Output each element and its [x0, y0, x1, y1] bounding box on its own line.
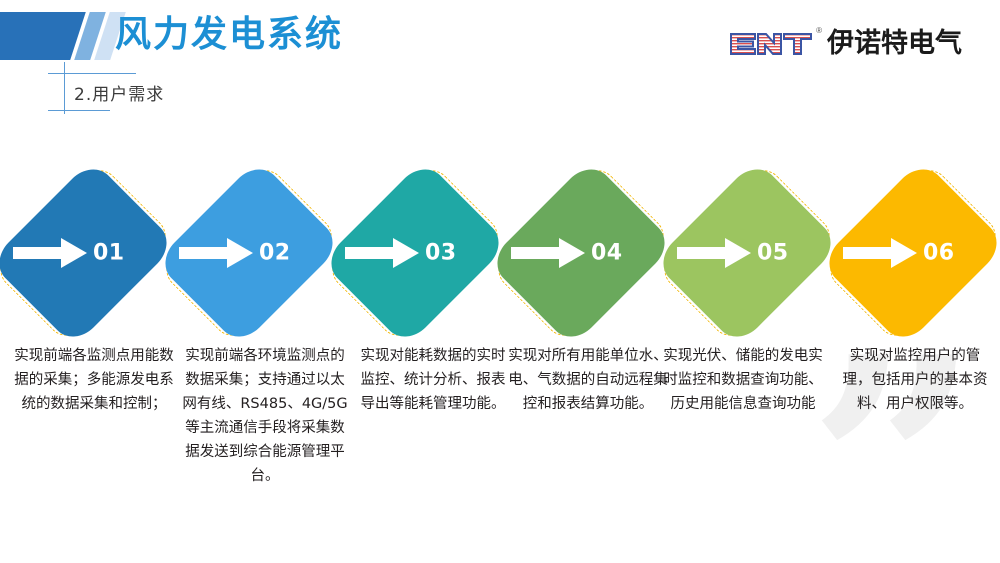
section-vertical-rule [64, 62, 65, 114]
section-rule-bottom [48, 110, 110, 111]
flow-captions: 实现前端各监测点用能数据的采集；多能源发电系统的数据采集和控制； 实现前端各环境… [0, 344, 1000, 494]
arrow-right-icon [843, 238, 917, 268]
process-flow: 01 02 03 04 05 [0, 168, 1000, 338]
ent-logo-icon [729, 31, 815, 57]
arrow-right-icon [179, 238, 253, 268]
slide-page: ” 风力发电系统 2.用户需求 [0, 0, 1000, 563]
flow-caption-03: 实现对能耗数据的实时监控、统计分析、报表导出等能耗管理功能。 [358, 344, 508, 416]
company-logo: ® 伊诺特电气 [729, 24, 962, 64]
flow-node-01[interactable]: 01 [0, 168, 166, 338]
company-name: 伊诺特电气 [827, 29, 962, 59]
flow-node-number: 06 [923, 241, 955, 266]
flow-node-02[interactable]: 02 [166, 168, 332, 338]
flow-caption-01: 实现前端各监测点用能数据的采集；多能源发电系统的数据采集和控制； [14, 344, 174, 416]
flow-node-03[interactable]: 03 [332, 168, 498, 338]
arrow-right-icon [511, 238, 585, 268]
section-title: 2.用户需求 [74, 80, 164, 105]
flow-node-number: 05 [757, 241, 789, 266]
section-rule-top [48, 73, 136, 74]
arrow-right-icon [345, 238, 419, 268]
flow-caption-02: 实现前端各环境监测点的数据采集；支持通过以太网有线、RS485、4G/5G 等主… [180, 344, 350, 488]
flow-node-04[interactable]: 04 [498, 168, 664, 338]
flow-node-number: 04 [591, 241, 623, 266]
flow-node-05[interactable]: 05 [664, 168, 830, 338]
page-title: 风力发电系统 [115, 13, 343, 57]
flow-node-06[interactable]: 06 [830, 168, 996, 338]
flow-caption-04: 实现对所有用能单位水、电、气数据的自动远程集控和报表结算功能。 [508, 344, 668, 416]
flow-node-number: 01 [93, 241, 125, 266]
flow-caption-06: 实现对监控用户的管理，包括用户的基本资料、用户权限等。 [840, 344, 990, 416]
arrow-right-icon [677, 238, 751, 268]
flow-caption-05: 实现光伏、储能的发电实时监控和数据查询功能、历史用能信息查询功能 [658, 344, 828, 416]
arrow-right-icon [13, 238, 87, 268]
registered-trademark-icon: ® [816, 26, 822, 35]
slide-header: 风力发电系统 2.用户需求 [0, 0, 1000, 120]
section-heading-group: 2.用户需求 [48, 66, 348, 114]
flow-node-number: 03 [425, 241, 457, 266]
flow-node-number: 02 [259, 241, 291, 266]
header-bar-primary [0, 12, 86, 60]
